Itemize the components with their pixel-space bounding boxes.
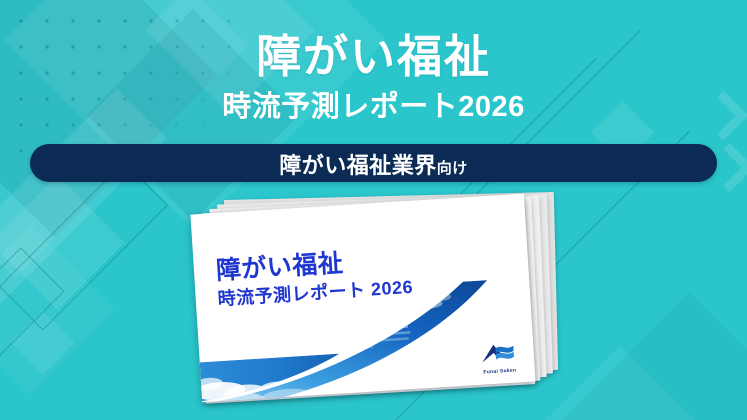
heading-group: 障がい福祉 時流予測レポート2026: [0, 0, 747, 122]
audience-banner-label: 障がい福祉業界: [279, 148, 437, 180]
booklet-cover-title: 障がい福祉: [215, 251, 344, 284]
promo-banner-stage: 障がい福祉 時流予測レポート2026 障がい福祉業界 向け: [0, 0, 747, 420]
report-booklet: 障がい福祉 時流予測レポート 2026 Funai Soken: [196, 196, 556, 396]
audience-banner: 障がい福祉業界 向け: [30, 144, 717, 182]
audience-banner-content: 障がい福祉業界 向け: [279, 148, 468, 180]
audience-banner-suffix: 向け: [437, 157, 468, 178]
page-subtitle: 時流予測レポート2026: [0, 79, 747, 122]
wave-mark-icon: [475, 340, 523, 369]
page-title: 障がい福祉: [0, 0, 747, 79]
booklet-cover: 障がい福祉 時流予測レポート 2026 Funai Soken: [190, 194, 535, 403]
brand-logo: Funai Soken: [475, 340, 523, 376]
